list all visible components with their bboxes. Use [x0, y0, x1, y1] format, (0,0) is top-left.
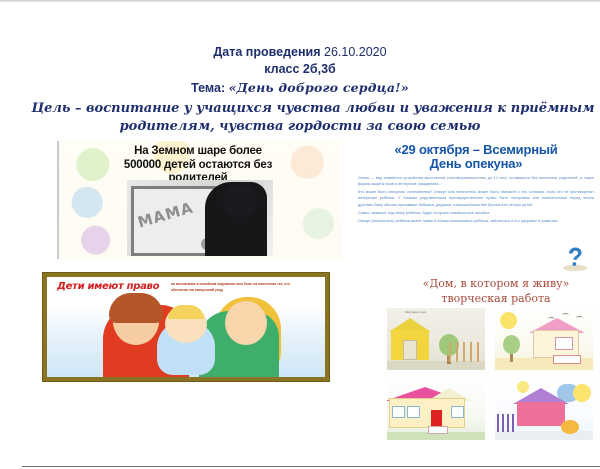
drawing-house — [517, 402, 565, 426]
guardianship-paragraph: Опекун (попечитель) ребёнка имеет право … — [358, 218, 594, 224]
drawing-window — [451, 406, 464, 418]
goal-line: Цель – воспитание у учащихся чувства люб… — [0, 100, 600, 138]
statistics-caption-line-2: 500000 детей остаются без — [124, 159, 272, 171]
guardianship-paragraph: Кто может быть опекуном, попечителем? Оп… — [358, 189, 594, 208]
guardianship-paragraph: Опека — вид семейного устройства малолет… — [358, 175, 594, 188]
guardianship-title: «29 октября – Всемирный День опекуна» — [356, 143, 596, 172]
slide-header: Дата проведения 26.10.2020 класс 2б,3б Т… — [0, 44, 600, 137]
drawing-door — [403, 340, 417, 360]
drawing-bird — [562, 313, 569, 317]
guardianship-title-line-2: День опекуна» — [430, 156, 523, 171]
children-rights-subtext: на воспитание в семейном окружении или б… — [171, 282, 291, 294]
drawing-window — [555, 337, 573, 350]
creative-works-title-line-1: «Дом, в котором я живу» — [423, 277, 570, 290]
goal-line-1: Цель – воспитание у учащихся чувства люб… — [26, 100, 600, 119]
statistics-caption-line-1: На Земном шаре более — [134, 145, 262, 157]
event-date-line: Дата проведения 26.10.2020 — [0, 44, 600, 61]
baby-hair — [168, 305, 204, 319]
top-divider — [0, 0, 600, 2]
drawing-ground — [495, 431, 593, 440]
goal-line-2: родителям, чувства гордости за свою семь… — [0, 118, 600, 137]
date-label: Дата проведения — [213, 45, 320, 59]
drawing-bush — [561, 420, 579, 434]
class-line: класс 2б,3б — [0, 61, 600, 78]
guardianship-title-line-1: «29 октября – Всемирный — [394, 142, 557, 157]
creative-works-grid: Мой дом и сад — [387, 308, 595, 440]
children-rights-headline: Дети имеют право — [57, 281, 159, 292]
drawing-tree — [503, 335, 520, 354]
child-drawing-pink-purple-house-with-sun — [495, 378, 593, 440]
mother-head — [225, 301, 267, 345]
guardianship-info-block: «29 октября – Всемирный День опекуна» Оп… — [356, 141, 596, 276]
child-drawing-pink-roof-house-with-sun — [495, 308, 593, 370]
creative-works-title: «Дом, в котором я живу» творческая работ… — [396, 277, 596, 307]
drawing-step — [428, 426, 448, 434]
statistics-image: На Земном шаре более 500000 детей остают… — [57, 141, 341, 259]
family-picture-inner: Дети имеют право на воспитание в семейно… — [47, 277, 325, 377]
boy-writing-mama-on-window-photo: МАМА — [127, 180, 273, 256]
family-rights-picture: Дети имеют право на воспитание в семейно… — [42, 272, 330, 382]
drawing-window — [407, 406, 420, 418]
drawing-sign — [553, 355, 581, 364]
drawing-fence — [449, 342, 483, 362]
child-drawing-yellow-house-with-fence: Мой дом и сад — [387, 308, 485, 370]
child-drawing-house-with-red-door — [387, 378, 485, 440]
drawing-sun — [573, 384, 591, 402]
bottom-divider — [22, 466, 600, 467]
drawing-ground — [387, 361, 485, 370]
drawing-sun — [500, 312, 517, 329]
theme-value: «День доброго сердца!» — [229, 80, 409, 95]
father-hair — [109, 293, 163, 323]
drawing-caption: Мой дом и сад — [405, 310, 425, 314]
guardianship-paragraph: Семьи, взявшие под опеку ребёнка, будут … — [358, 210, 594, 216]
drawing-window — [392, 406, 405, 418]
child-head — [223, 185, 257, 217]
guardianship-body: Опека — вид семейного устройства малолет… — [358, 175, 594, 225]
creative-works-title-line-2: творческая работа — [396, 292, 596, 307]
date-value: 26.10.2020 — [324, 45, 387, 59]
drawing-fence — [497, 414, 517, 432]
theme-label: Тема: — [191, 81, 225, 95]
presentation-slide: Дата проведения 26.10.2020 класс 2б,3б Т… — [0, 0, 600, 469]
blue-question-mark-icon — [560, 246, 590, 272]
theme-line: Тема: «День доброго сердца!» — [0, 80, 600, 97]
